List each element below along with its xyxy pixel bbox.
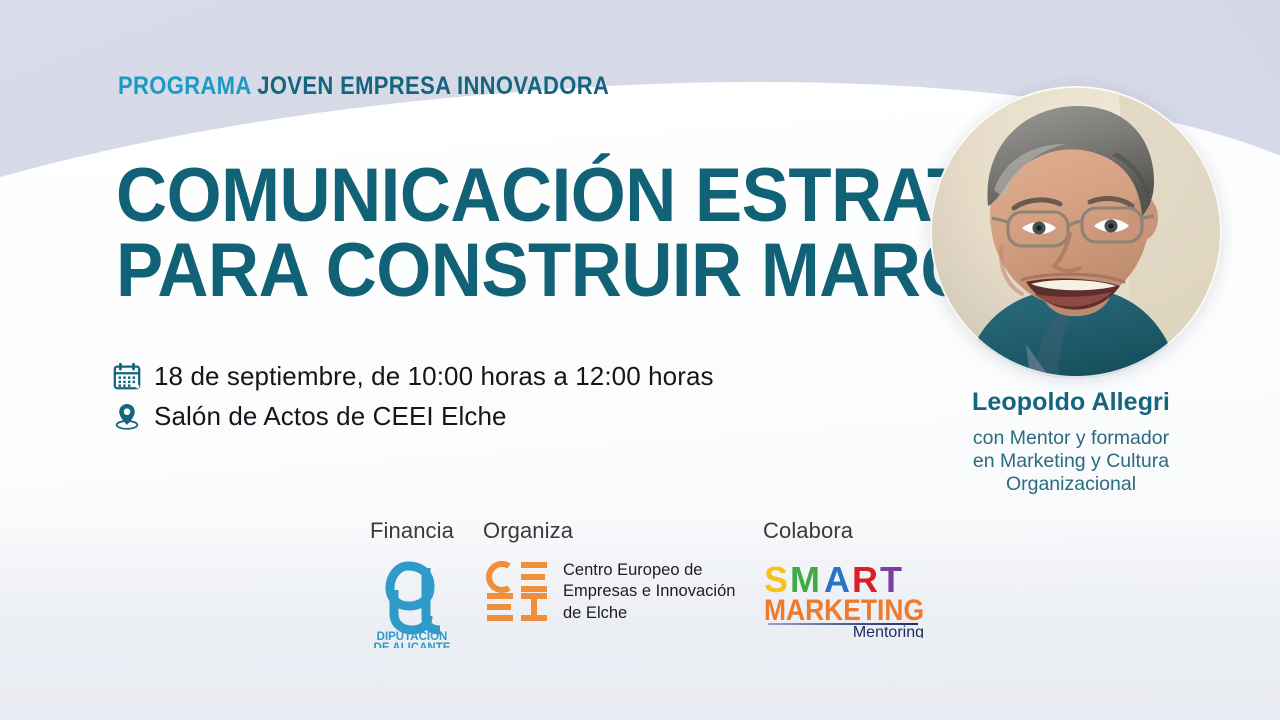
- sponsor-label-colabora: Colabora: [762, 518, 962, 544]
- sponsor-label-organiza: Organiza: [482, 518, 772, 544]
- detail-text-date: 18 de septiembre, de 10:00 horas a 12:00…: [154, 361, 714, 392]
- speaker-photo: [930, 86, 1222, 378]
- speaker-role: con Mentor y formador en Marketing y Cul…: [916, 427, 1226, 495]
- event-details: 18 de septiembre, de 10:00 horas a 12:00…: [112, 356, 714, 436]
- smart-marketing-logo: S M A R T MARKETING: [762, 560, 962, 643]
- ceei-line-3: de Elche: [563, 603, 735, 624]
- detail-row-date: 18 de septiembre, de 10:00 horas a 12:00…: [112, 356, 714, 396]
- ceei-logo: Centro Europeo de Empresas e Innovación …: [482, 560, 772, 624]
- smart-marketing-wordmark-icon: S M A R T MARKETING: [762, 560, 928, 638]
- speaker-role-line-1: con Mentor y formador: [916, 427, 1226, 450]
- ceei-line-1: Centro Europeo de: [563, 560, 735, 581]
- ceei-line-2: Empresas e Innovación: [563, 581, 735, 602]
- location-pin-icon: [112, 400, 142, 432]
- ceei-text: Centro Europeo de Empresas e Innovación …: [563, 560, 735, 624]
- speaker-role-line-2: en Marketing y Cultura: [916, 450, 1226, 473]
- speaker-info: Leopoldo Allegri con Mentor y formador e…: [916, 388, 1226, 495]
- sponsor-section: Financia DIPUTACIÓN DE ALICANTE Organiza: [300, 518, 960, 668]
- diputacion-line-2: DE ALICANTE: [374, 642, 451, 648]
- diputacion-monogram-icon: DIPUTACIÓN DE ALICANTE: [364, 556, 460, 648]
- sponsor-organiza: Organiza Centro Europeo de Empresas e In…: [482, 518, 772, 624]
- sponsor-financia: Financia DIPUTACIÓN DE ALICANTE: [332, 518, 492, 648]
- calendar-icon: [112, 360, 142, 392]
- eyebrow-rest: JOVEN EMPRESA INNOVADORA: [257, 72, 609, 100]
- detail-row-location: Salón de Actos de CEEI Elche: [112, 396, 714, 436]
- smart-word-marketing: MARKETING: [764, 594, 924, 627]
- sponsor-colabora: Colabora S M A R T MARKETING: [762, 518, 962, 643]
- ceei-mark-icon: [482, 560, 550, 624]
- diputacion-alicante-logo: DIPUTACIÓN DE ALICANTE: [332, 556, 492, 648]
- program-eyebrow: PROGRAMA JOVEN EMPRESA INNOVADORA: [118, 72, 609, 101]
- sponsor-label-financia: Financia: [332, 518, 492, 544]
- poster-canvas: PROGRAMA JOVEN EMPRESA INNOVADORA COMUNI…: [0, 0, 1280, 720]
- eyebrow-highlight: PROGRAMA: [118, 72, 251, 100]
- smart-word-mentoring: Mentoring: [853, 624, 924, 638]
- speaker-name: Leopoldo Allegri: [916, 388, 1226, 417]
- speaker-portrait-illustration: [930, 86, 1222, 378]
- detail-text-location: Salón de Actos de CEEI Elche: [154, 401, 507, 432]
- speaker-role-line-3: Organizacional: [916, 473, 1226, 496]
